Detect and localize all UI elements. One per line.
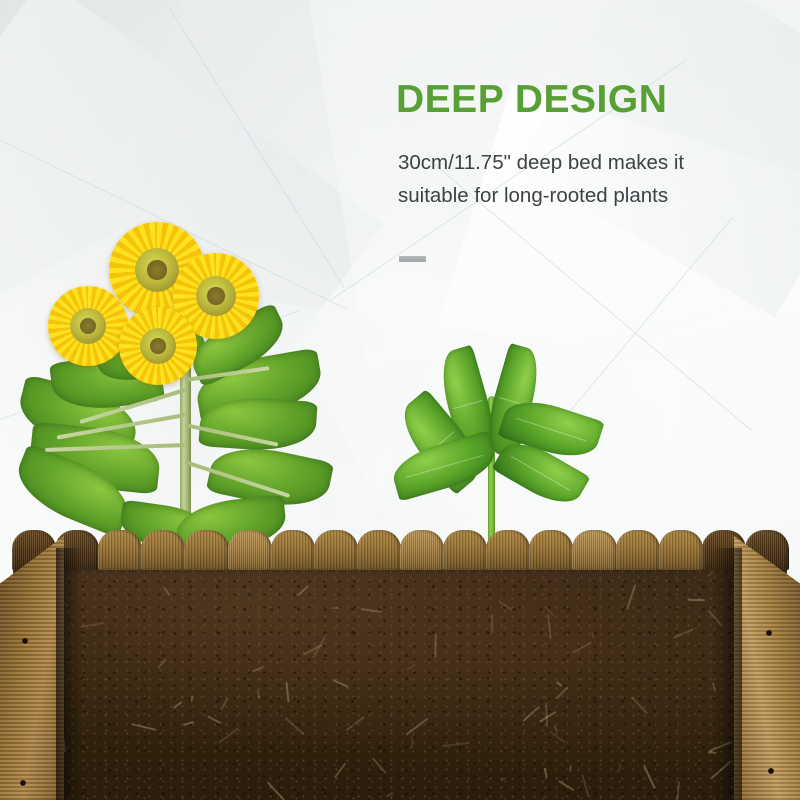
planter-picket: [529, 530, 573, 570]
planter-right-corner-shadow: [712, 548, 742, 800]
page-title: DEEP DESIGN: [396, 80, 667, 119]
soil-texture: [12, 558, 788, 800]
sunflower-plant: [0, 238, 340, 578]
sunflower-core: [147, 260, 166, 279]
planter-picket: [659, 530, 703, 570]
soil-root-thread: [411, 735, 413, 749]
planter-picket: [271, 530, 315, 570]
planter-picket: [486, 530, 530, 570]
leaf-vein: [515, 417, 586, 441]
sunflower-bloom: [119, 307, 197, 385]
planter-picket: [616, 530, 660, 570]
subtitle: 30cm/11.75" deep bed makes it suitable f…: [398, 146, 684, 212]
subtitle-line-2: suitable for long-rooted plants: [398, 179, 684, 212]
screw-icon: [22, 638, 28, 644]
planter-picket: [228, 530, 272, 570]
planter-left-corner-shadow: [56, 548, 82, 800]
soil-fill: [12, 558, 788, 800]
raised-garden-bed: [0, 528, 800, 800]
leaf-vein: [511, 456, 571, 491]
planter-picket: [184, 530, 228, 570]
screw-icon: [20, 780, 26, 786]
leaf-vein: [453, 400, 482, 409]
soil-root-thread: [491, 614, 493, 633]
planter-front-rim: [12, 530, 788, 570]
screw-icon: [766, 630, 772, 636]
subtitle-line-1: 30cm/11.75" deep bed makes it: [398, 146, 684, 179]
sunflower-bloom: [48, 286, 128, 366]
sunflower-core: [150, 338, 166, 354]
planter-picket: [141, 530, 185, 570]
planter-left-side-panel: [0, 536, 64, 800]
sunflower-core: [207, 287, 224, 304]
planter-picket: [357, 530, 401, 570]
leaf-vein: [406, 455, 482, 478]
horizontal-dash-icon: [399, 256, 426, 262]
soil-root-thread: [688, 599, 705, 601]
planter-picket: [572, 530, 616, 570]
soil-root-thread: [332, 607, 340, 609]
screw-icon: [768, 768, 774, 774]
planter-right-side-panel: [734, 536, 800, 800]
planter-picket: [400, 530, 444, 570]
planter-picket: [98, 530, 142, 570]
planter-picket: [314, 530, 358, 570]
planter-picket: [443, 530, 487, 570]
sunflower-core: [80, 318, 96, 334]
product-feature-banner: DEEP DESIGN 30cm/11.75" deep bed makes i…: [0, 0, 800, 800]
